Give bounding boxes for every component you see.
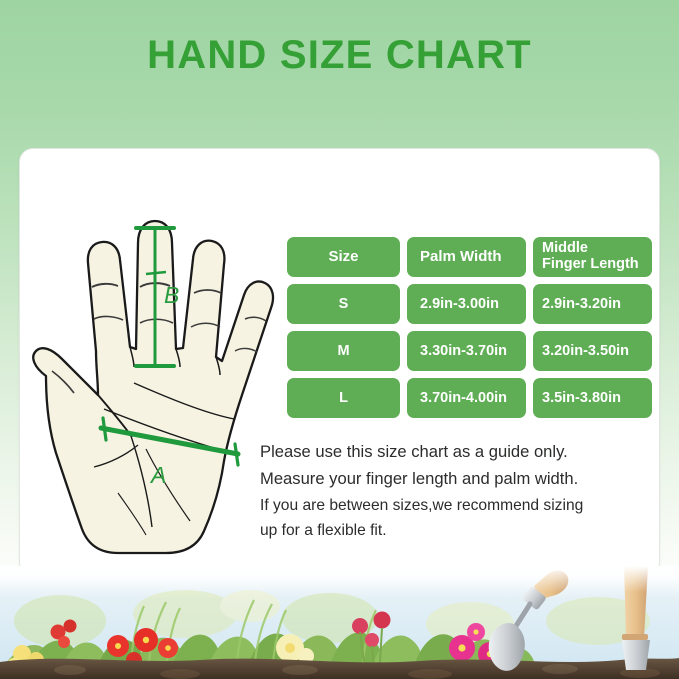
cell-finger-length-m: 3.20in-3.50in	[533, 331, 652, 371]
cell-palm-width-m: 3.30in-3.70in	[407, 331, 526, 371]
size-guide-notes: Please use this size chart as a guide on…	[260, 439, 660, 543]
band-top-fade	[0, 566, 679, 592]
cell-finger-length-l: 3.5in-3.80in	[533, 378, 652, 418]
table-row: M 3.30in-3.70in 3.20in-3.50in	[287, 331, 659, 371]
table-row: L 3.70in-4.00in 3.5in-3.80in	[287, 378, 659, 418]
header-middle-finger-length: Middle Finger Length	[533, 237, 652, 277]
header-finger-line-1: Middle	[542, 241, 639, 257]
note-line-4: up for a flexible fit.	[260, 518, 660, 543]
measure-label-b: B	[164, 282, 179, 308]
measure-label-a: A	[149, 462, 166, 488]
hand-size-chart-page: HAND SIZE CHART	[0, 0, 679, 679]
header-size: Size	[287, 237, 400, 277]
garden-photo-band	[0, 566, 679, 679]
note-line-2: Measure your finger length and palm widt…	[260, 466, 660, 493]
page-title: HAND SIZE CHART	[0, 33, 679, 78]
header-finger-line-2: Finger Length	[542, 257, 639, 273]
hand-measurement-diagram: B A	[26, 171, 288, 571]
content-card: B A Size Palm Width Middle Fi	[19, 148, 660, 576]
table-header-row: Size Palm Width Middle Finger Length	[287, 237, 659, 277]
header-palm-width: Palm Width	[407, 237, 526, 277]
note-line-1: Please use this size chart as a guide on…	[260, 439, 660, 466]
table-row: S 2.9in-3.00in 2.9in-3.20in	[287, 284, 659, 324]
cell-size-l: L	[287, 378, 400, 418]
size-table: Size Palm Width Middle Finger Length S 2…	[287, 237, 659, 425]
cell-palm-width-s: 2.9in-3.00in	[407, 284, 526, 324]
cell-size-m: M	[287, 331, 400, 371]
cell-palm-width-l: 3.70in-4.00in	[407, 378, 526, 418]
hand-illustration-shape	[33, 221, 273, 553]
note-line-3: If you are between sizes,we recommend si…	[260, 493, 660, 518]
cell-finger-length-s: 2.9in-3.20in	[533, 284, 652, 324]
cell-size-s: S	[287, 284, 400, 324]
